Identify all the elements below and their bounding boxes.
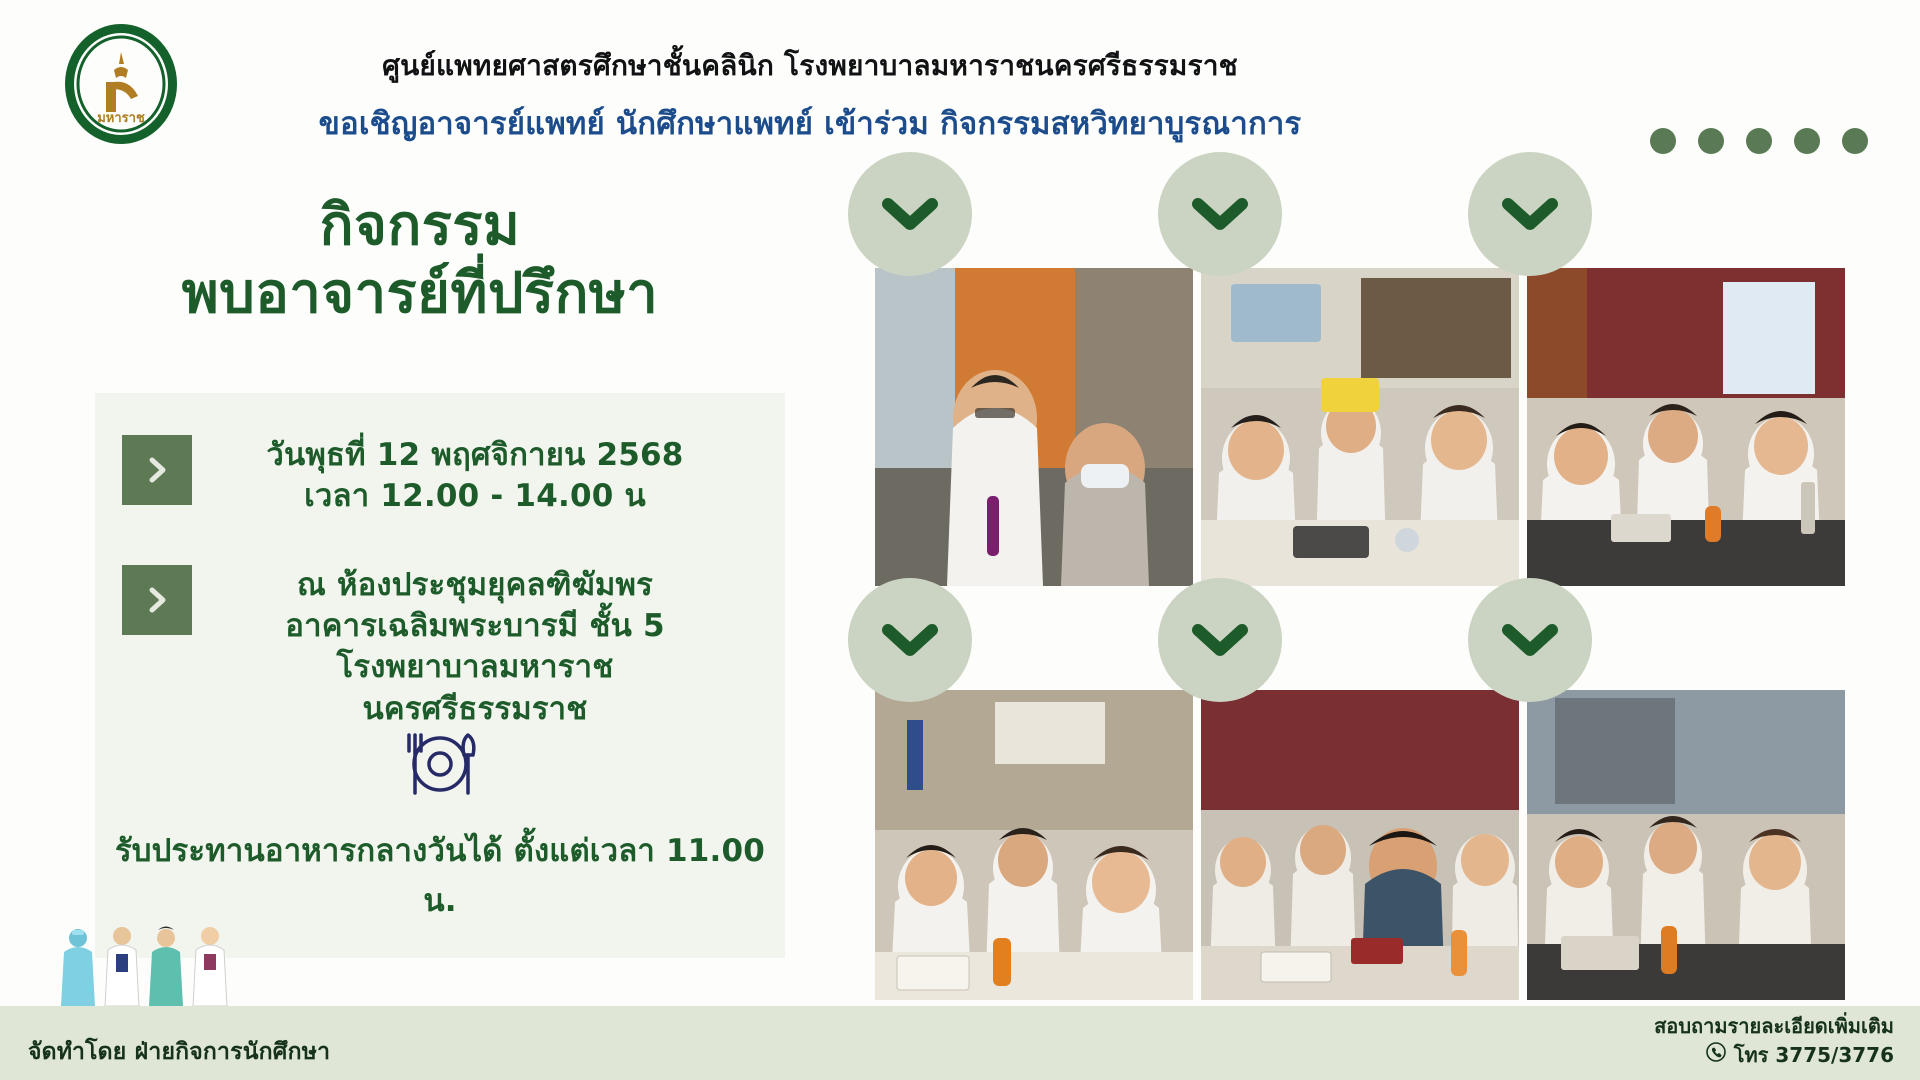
footer-bar: จัดทำโดย ฝ่ายกิจการนักศึกษา สอบถามรายละเ… xyxy=(0,1006,1920,1080)
poster-canvas: มหาราช ศูนย์แพทยศาสตรศึกษาชั้นคลินิก โรง… xyxy=(0,0,1920,1080)
page-title: กิจกรรม พบอาจารย์ที่ปรึกษา xyxy=(90,192,750,329)
title-line-2: พบอาจารย์ที่ปรึกษา xyxy=(90,260,750,328)
event-time: เวลา 12.00 - 14.00 น xyxy=(225,476,725,517)
chevron-down-icon xyxy=(848,578,972,702)
event-date: วันพุธที่ 12 พฤศจิกายน 2568 xyxy=(225,435,725,476)
gallery-photo-4 xyxy=(875,690,1193,1000)
gallery-photo-3 xyxy=(1527,268,1845,586)
gallery-photo-2 xyxy=(1201,268,1519,586)
doctor-figures-illustration xyxy=(52,924,272,1006)
chevron-down-icon xyxy=(1468,152,1592,276)
gallery-photo-6 xyxy=(1527,690,1845,1000)
plate-fork-knife-icon xyxy=(95,725,785,803)
meal-note: รับประทานอาหารกลางวันได้ ตั้งแต่เวลา 11.… xyxy=(95,825,785,925)
detail-row-venue: ณ ห้องประชุมยุคลฑิฆัมพร อาคารเฉลิมพระบาร… xyxy=(122,565,725,730)
chevron-down-icon xyxy=(1158,152,1282,276)
phone-icon xyxy=(1706,1041,1726,1070)
venue-line-1: ณ ห้องประชุมยุคลฑิฆัมพร xyxy=(225,565,725,606)
gallery-photo-1 xyxy=(875,268,1193,586)
chevron-right-icon xyxy=(122,565,192,635)
chevron-right-icon xyxy=(122,435,192,505)
invitation-headline: ขอเชิญอาจารย์แพทย์ นักศึกษาแพทย์ เข้าร่ว… xyxy=(250,105,1370,144)
decorative-dots xyxy=(1650,128,1868,154)
photo-gallery xyxy=(875,268,1845,1000)
svg-text:มหาราช: มหาราช xyxy=(97,111,145,126)
chevron-down-icon xyxy=(1158,578,1282,702)
chevron-down-icon xyxy=(848,152,972,276)
gallery-row-bottom xyxy=(875,690,1845,1000)
detail-row-date: วันพุธที่ 12 พฤศจิกายน 2568 เวลา 12.00 -… xyxy=(122,435,725,517)
phone-number: โทร 3775/3776 xyxy=(1734,1041,1894,1070)
gallery-photo-5 xyxy=(1201,690,1519,1000)
venue-line-2: อาคารเฉลิมพระบารมี ชั้น 5 xyxy=(225,606,725,647)
chevron-down-icon xyxy=(1468,578,1592,702)
contact-block: สอบถามรายละเอียดเพิ่มเติม โทร 3775/3776 xyxy=(1654,1012,1894,1070)
dot-1 xyxy=(1650,128,1676,154)
dot-2 xyxy=(1698,128,1724,154)
dot-4 xyxy=(1794,128,1820,154)
venue-line-3: โรงพยาบาลมหาราชนครศรีธรรมราช xyxy=(225,647,725,729)
gallery-row-top xyxy=(875,268,1845,586)
dot-5 xyxy=(1842,128,1868,154)
dot-3 xyxy=(1746,128,1772,154)
event-details-panel: วันพุธที่ 12 พฤศจิกายน 2568 เวลา 12.00 -… xyxy=(95,393,785,958)
contact-label: สอบถามรายละเอียดเพิ่มเติม xyxy=(1654,1012,1894,1041)
organization-title: ศูนย์แพทยศาสตรศึกษาชั้นคลินิก โรงพยาบาลม… xyxy=(250,48,1370,83)
hospital-logo: มหาราช xyxy=(62,22,180,146)
title-line-1: กิจกรรม xyxy=(320,193,521,258)
produced-by-label: จัดทำโดย ฝ่ายกิจการนักศึกษา xyxy=(28,1034,330,1070)
